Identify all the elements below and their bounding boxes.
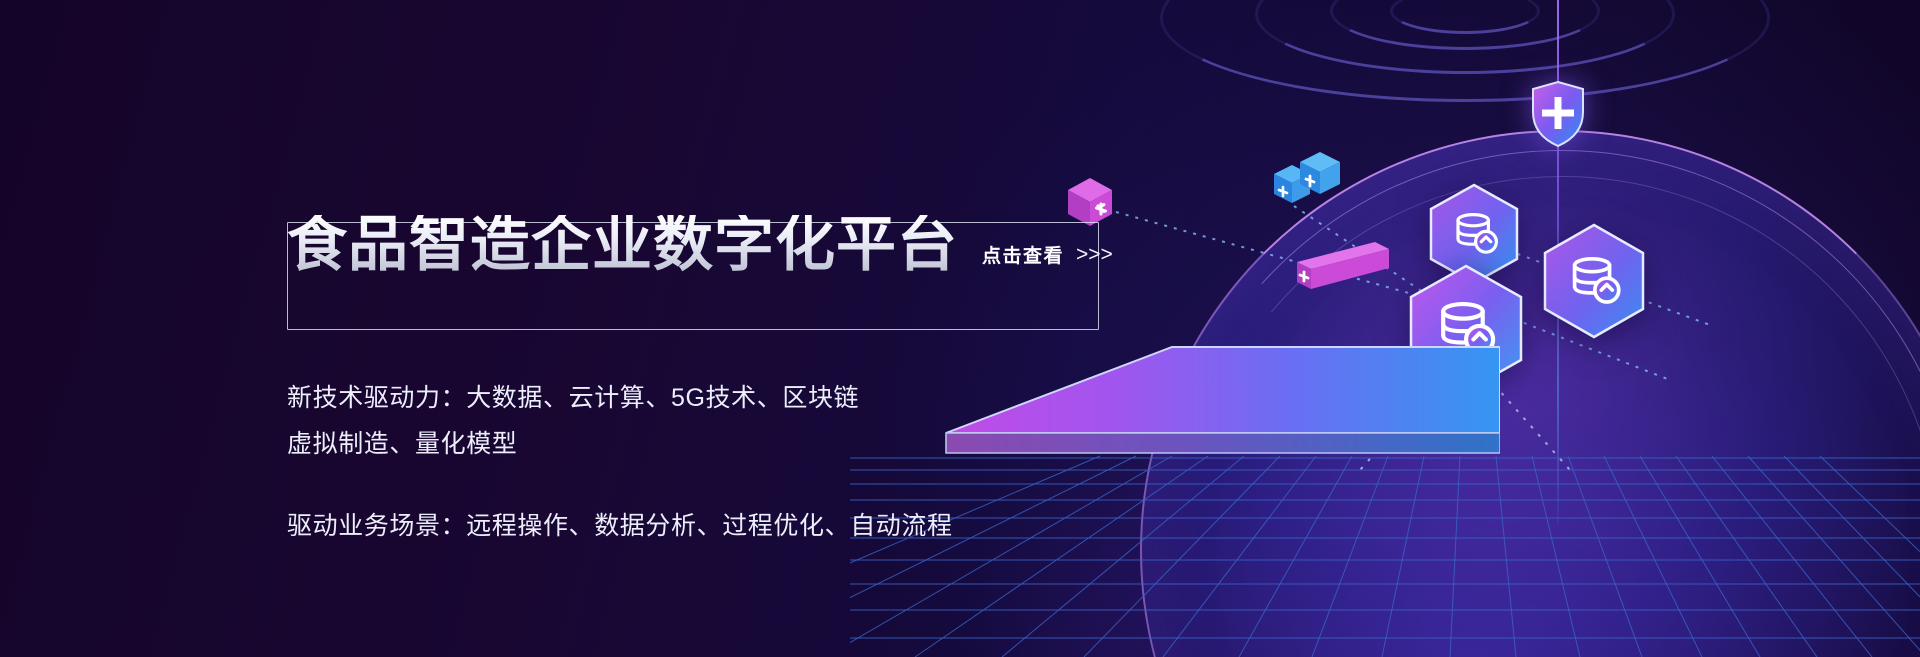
view-more-button[interactable]: 点击查看 >>>: [982, 241, 1113, 268]
hero-copy: 食品智造企业数字化平台 点击查看 >>> 新技术驱动力：大数据、云计算、5G技术…: [0, 0, 1180, 657]
page-title: 食品智造企业数字化平台: [287, 215, 958, 277]
description-line-2: 虚拟制造、量化模型: [287, 421, 953, 467]
description-block: 新技术驱动力：大数据、云计算、5G技术、区块链 虚拟制造、量化模型 驱动业务场景…: [287, 375, 953, 549]
cube-plus-icon-blue-2: [1298, 150, 1342, 198]
bar-plus-icon-magenta: [1275, 242, 1389, 298]
hero-banner: 食品智造企业数字化平台 点击查看 >>> 新技术驱动力：大数据、云计算、5G技术…: [0, 0, 1920, 657]
hexagon-badge-database-2: [1542, 223, 1646, 339]
title-row: 食品智造企业数字化平台 点击查看 >>>: [0, 215, 1113, 277]
view-more-label: 点击查看: [982, 241, 1064, 268]
description-line-3: 驱动业务场景：远程操作、数据分析、过程优化、自动流程: [287, 503, 953, 549]
description-line-1: 新技术驱动力：大数据、云计算、5G技术、区块链: [287, 375, 953, 421]
chevron-right-triple-icon: >>>: [1076, 243, 1113, 267]
